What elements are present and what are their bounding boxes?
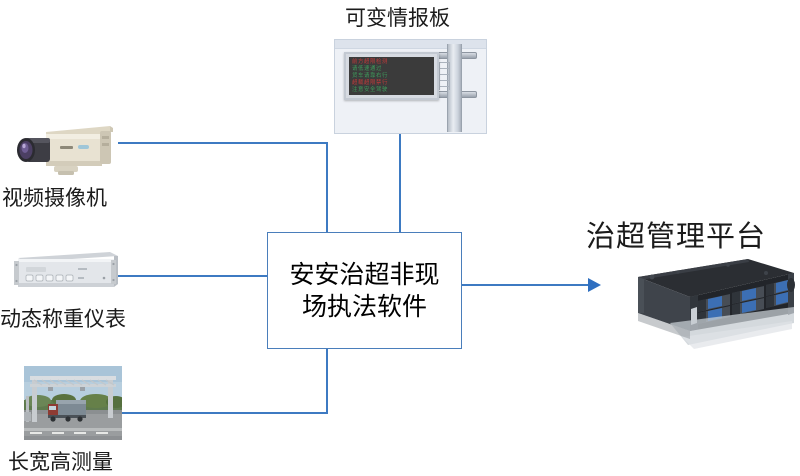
vms-led-row: 注意安全驾驶	[352, 87, 431, 93]
connector-camera-vertical	[326, 142, 328, 240]
central-label-line-1: 安安治超非现	[289, 259, 439, 291]
weighing-instrument-svg	[10, 248, 122, 296]
connector-central-to-platform	[462, 284, 590, 286]
video-camera-icon	[14, 122, 116, 180]
vms-top-strip	[335, 40, 486, 49]
label-video-camera: 视频摄像机	[2, 182, 107, 212]
label-weighing-instrument: 动态称重仪表	[0, 303, 126, 333]
label-lwh-measurement: 长宽高测量	[8, 446, 113, 476]
arrow-head-to-platform	[588, 278, 601, 292]
vms-frame: 前方超限检测 请低速通过 货车请靠右行 超载超限禁行 注意安全驾驶	[344, 52, 439, 100]
connector-weighing-to-central	[118, 275, 268, 277]
connector-camera-horizontal	[118, 142, 328, 144]
gantry-measurement-photo-icon	[24, 366, 122, 440]
vms-led-row: 前方超限检测	[352, 59, 431, 65]
central-software-box[interactable]: 安安治超非现 场执法软件	[267, 232, 462, 349]
rack-server-svg	[632, 251, 797, 363]
diagram-canvas: 前方超限检测 请低速通过 货车请靠右行 超载超限禁行 注意安全驾驶 可变情报板	[0, 0, 800, 469]
weighing-instrument-icon	[10, 248, 122, 296]
central-label-line-2: 场执法软件	[289, 291, 439, 323]
vms-led-row: 货车请靠右行	[352, 73, 431, 79]
vms-led-row: 超载超限禁行	[352, 80, 431, 86]
label-management-platform: 治超管理平台	[586, 213, 766, 255]
central-software-box-label: 安安治超非现 场执法软件	[283, 259, 445, 323]
vms-led-screen: 前方超限检测 请低速通过 货车请靠右行 超载超限禁行 注意安全驾驶	[349, 57, 434, 95]
vms-ladder	[439, 62, 450, 90]
connector-vms-to-central	[399, 134, 401, 233]
rack-server-icon	[632, 251, 797, 363]
gantry-photo-svg	[24, 366, 122, 440]
connector-lwh-horizontal	[122, 412, 328, 414]
connector-lwh-vertical	[326, 349, 328, 414]
label-variable-message-sign: 可变情报板	[345, 2, 450, 32]
variable-message-sign-icon: 前方超限检测 请低速通过 货车请靠右行 超载超限禁行 注意安全驾驶	[334, 39, 487, 134]
vms-led-row: 请低速通过	[352, 66, 431, 72]
video-camera-svg	[14, 122, 116, 180]
